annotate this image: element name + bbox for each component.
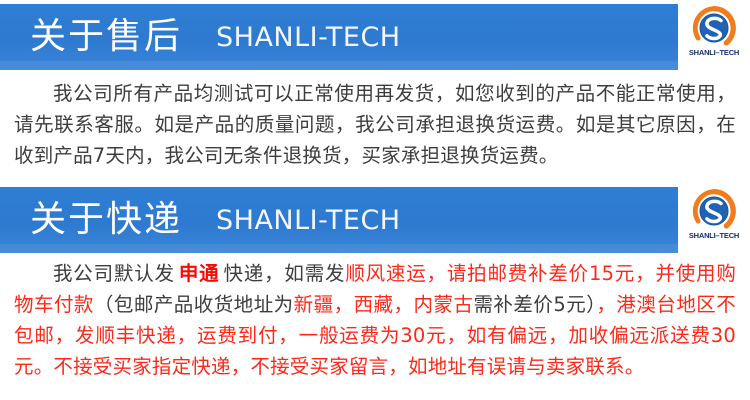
shipping-run-6: 需补差价5元）	[473, 293, 596, 316]
shipping-run-2: 快递，如需发	[223, 262, 345, 285]
shanli-tech-logo-icon	[692, 6, 736, 50]
policy-page: 关于售后 SHANLI-TECH SHANLI–TECH 我公司所有产品均测试可…	[0, 0, 750, 400]
shipping-run-remote-regions: 新疆，西藏，内蒙古	[294, 293, 474, 316]
logo-caption-aftersale: SHANLI–TECH	[689, 48, 739, 57]
shipping-text: 我公司默认发申通快递，如需发顺风速运，请拍邮费补差价15元，并使用购物车付款（包…	[14, 258, 736, 382]
brand-logo-shipping: SHANLI–TECH	[678, 187, 750, 253]
brand-logo-aftersale: SHANLI–TECH	[678, 4, 750, 70]
shanli-tech-logo-icon	[692, 189, 736, 233]
aftersale-text: 我公司所有产品均测试可以正常使用再发货，如您收到的产品不能正常使用，请先联系客服…	[14, 78, 736, 171]
banner-title-en-aftersale: SHANLI-TECH	[216, 24, 401, 51]
shipping-run-4: （包邮产品收货地址为	[94, 293, 294, 316]
shipping-run-0: 我公司默认发	[53, 262, 175, 285]
banner-bar-aftersale: 关于售后 SHANLI-TECH	[0, 4, 678, 70]
logo-caption-shipping: SHANLI–TECH	[689, 231, 739, 240]
aftersale-run-0: 我公司所有产品均测试可以正常使用再发货，如您收到的产品不能正常使用，请先联系客服…	[14, 82, 736, 167]
banner-title-cn-shipping: 关于快递	[30, 202, 182, 238]
banner-title-en-shipping: SHANLI-TECH	[216, 207, 401, 234]
banner-shipping: 关于快递 SHANLI-TECH SHANLI–TECH	[0, 187, 750, 253]
shipping-run-courier-shentong: 申通	[175, 262, 224, 285]
banner-aftersale: 关于售后 SHANLI-TECH SHANLI–TECH	[0, 4, 750, 70]
banner-bar-shipping: 关于快递 SHANLI-TECH	[0, 187, 678, 253]
banner-title-cn-aftersale: 关于售后	[30, 19, 182, 55]
paragraph-shipping: 我公司默认发申通快递，如需发顺风速运，请拍邮费补差价15元，并使用购物车付款（包…	[0, 258, 750, 382]
paragraph-aftersale: 我公司所有产品均测试可以正常使用再发货，如您收到的产品不能正常使用，请先联系客服…	[0, 78, 750, 171]
